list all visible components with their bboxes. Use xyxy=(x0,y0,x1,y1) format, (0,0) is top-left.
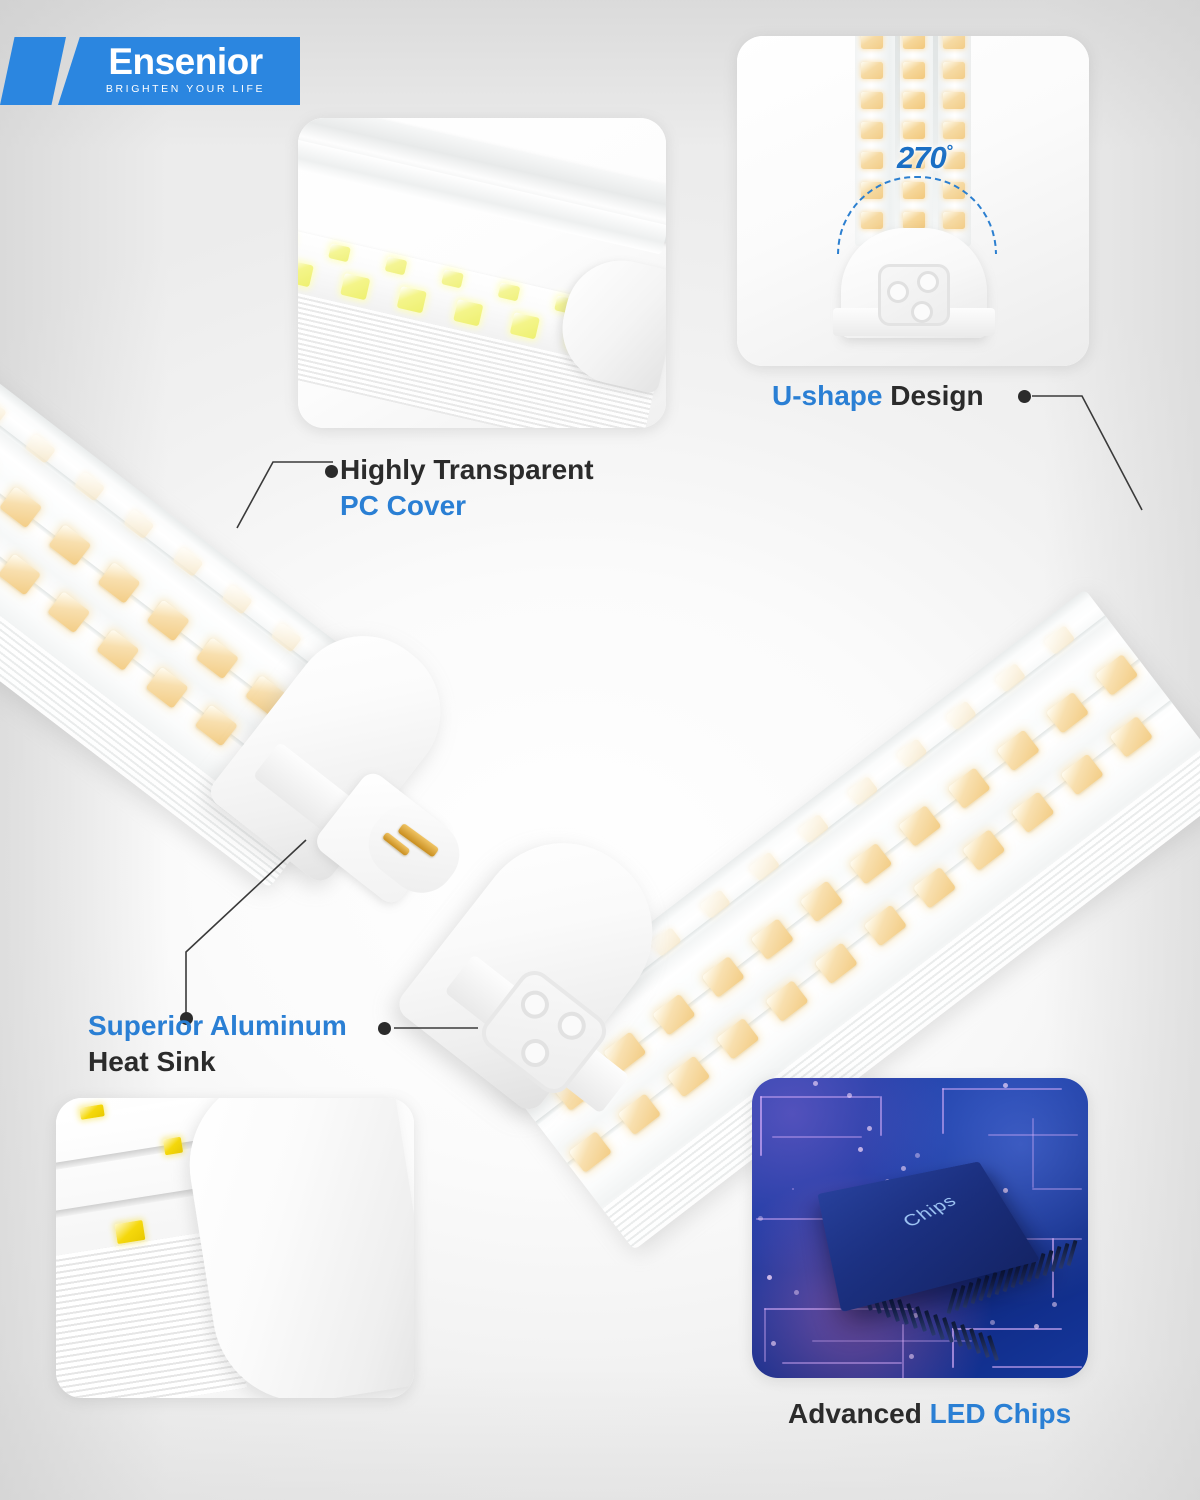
led-chip xyxy=(903,36,925,49)
u-shape-illustration: 270° xyxy=(737,36,1089,366)
callout-dot-heat-sink xyxy=(378,1022,391,1035)
led-chip xyxy=(861,152,883,169)
led-chip xyxy=(943,122,965,139)
socket-ring xyxy=(515,985,554,1024)
led-chip xyxy=(453,299,483,326)
circuit-node xyxy=(915,1153,920,1158)
circuit-node xyxy=(847,1093,852,1098)
pc-cover-illustration xyxy=(298,118,666,428)
circuit-trace xyxy=(952,1328,954,1368)
led-chip xyxy=(397,286,427,313)
chip-pin xyxy=(987,1335,999,1361)
callout-line-1: U-shape Design xyxy=(772,378,984,414)
led-chip xyxy=(340,273,370,300)
circuit-trace xyxy=(942,1088,944,1134)
socket-ring xyxy=(552,1006,591,1045)
circuit-node xyxy=(1003,1188,1008,1193)
circuit-node xyxy=(909,1354,914,1359)
u-shape-inset: 270° xyxy=(737,36,1089,366)
led-chip xyxy=(328,243,351,262)
callout-pc-cover: Highly Transparent PC Cover xyxy=(340,452,594,524)
callout-text-plain: Advanced xyxy=(788,1398,922,1429)
leader-line-heat-sink xyxy=(180,836,350,1026)
led-chip xyxy=(903,122,925,139)
led-chip xyxy=(498,282,521,301)
heat-sink-illustration xyxy=(56,1098,414,1398)
circuit-node xyxy=(794,1290,799,1295)
circuit-node xyxy=(901,1166,906,1171)
circuit-trace xyxy=(772,1136,862,1138)
circuit-trace xyxy=(1032,1188,1082,1190)
led-chip xyxy=(861,36,883,49)
callout-heat-sink: Superior Aluminum Heat Sink xyxy=(88,1008,347,1080)
led-chip xyxy=(943,92,965,109)
circuit-trace xyxy=(902,1324,904,1378)
heat-sink-inset xyxy=(56,1098,414,1398)
led-chip xyxy=(385,256,408,275)
circuit-node xyxy=(1052,1302,1057,1307)
circuit-trace xyxy=(760,1096,880,1098)
pc-cover-inset xyxy=(298,118,666,428)
brand-name: Ensenior xyxy=(78,42,293,82)
callout-line-1: Superior Aluminum xyxy=(88,1008,347,1044)
callout-u-shape: U-shape Design xyxy=(772,378,984,414)
led-chip xyxy=(903,62,925,79)
beam-angle-value: 270 xyxy=(897,140,946,175)
led-chip xyxy=(903,92,925,109)
callout-line-2: Heat Sink xyxy=(88,1044,347,1080)
circuit-trace xyxy=(782,1362,902,1364)
circuit-board-illustration: Chips xyxy=(752,1078,1088,1378)
circuit-trace xyxy=(812,1340,972,1342)
circuit-trace xyxy=(760,1096,762,1156)
led-chip xyxy=(861,122,883,139)
circuit-node xyxy=(1034,1324,1039,1329)
socket-ring xyxy=(516,1033,555,1072)
beam-angle-label: 270° xyxy=(897,140,952,176)
led-chip xyxy=(163,1137,183,1156)
led-chip xyxy=(298,260,314,287)
led-chip xyxy=(861,92,883,109)
circuit-node xyxy=(758,1216,763,1221)
circuit-trace xyxy=(1032,1118,1034,1188)
logo-slash-shape xyxy=(0,37,66,105)
circuit-node xyxy=(867,1126,872,1131)
brand-logo: Ensenior BRIGHTEN YOUR LIFE xyxy=(0,37,300,105)
led-chip xyxy=(441,269,464,288)
circuit-trace xyxy=(942,1088,1062,1090)
circuit-trace xyxy=(792,1188,794,1190)
callout-dot-pc-cover xyxy=(325,465,338,478)
circuit-trace xyxy=(764,1308,766,1362)
callout-text-plain: Design xyxy=(890,380,983,411)
leader-line-u-shape xyxy=(1030,390,1190,530)
led-chip xyxy=(943,62,965,79)
circuit-node xyxy=(767,1275,772,1280)
triangular-socket xyxy=(878,264,950,326)
degree-symbol: ° xyxy=(946,142,952,161)
led-chip xyxy=(510,312,540,339)
socket-ring xyxy=(917,271,939,293)
callout-text-highlight: LED Chips xyxy=(930,1398,1072,1429)
led-chip xyxy=(861,62,883,79)
led-chips-inset: Chips xyxy=(752,1078,1088,1378)
circuit-node xyxy=(771,1341,776,1346)
callout-text-highlight: U-shape xyxy=(772,380,882,411)
circuit-node xyxy=(1003,1083,1008,1088)
brand-tagline: BRIGHTEN YOUR LIFE xyxy=(78,83,293,95)
circuit-node xyxy=(990,1320,995,1325)
callout-led-chips: Advanced LED Chips xyxy=(788,1396,1071,1432)
chip-label: Chips xyxy=(882,1185,975,1240)
circuit-trace xyxy=(880,1096,882,1136)
socket-ring xyxy=(887,281,909,303)
socket-ring xyxy=(911,301,933,323)
led-chip xyxy=(943,36,965,49)
callout-line-2: PC Cover xyxy=(340,488,594,524)
leader-line-heat-sink-2 xyxy=(392,1022,502,1042)
callout-line-1: Highly Transparent xyxy=(340,452,594,488)
circuit-trace xyxy=(992,1366,1082,1368)
circuit-node xyxy=(813,1081,818,1086)
callout-line-1: Advanced LED Chips xyxy=(788,1396,1071,1432)
circuit-node xyxy=(858,1147,863,1152)
